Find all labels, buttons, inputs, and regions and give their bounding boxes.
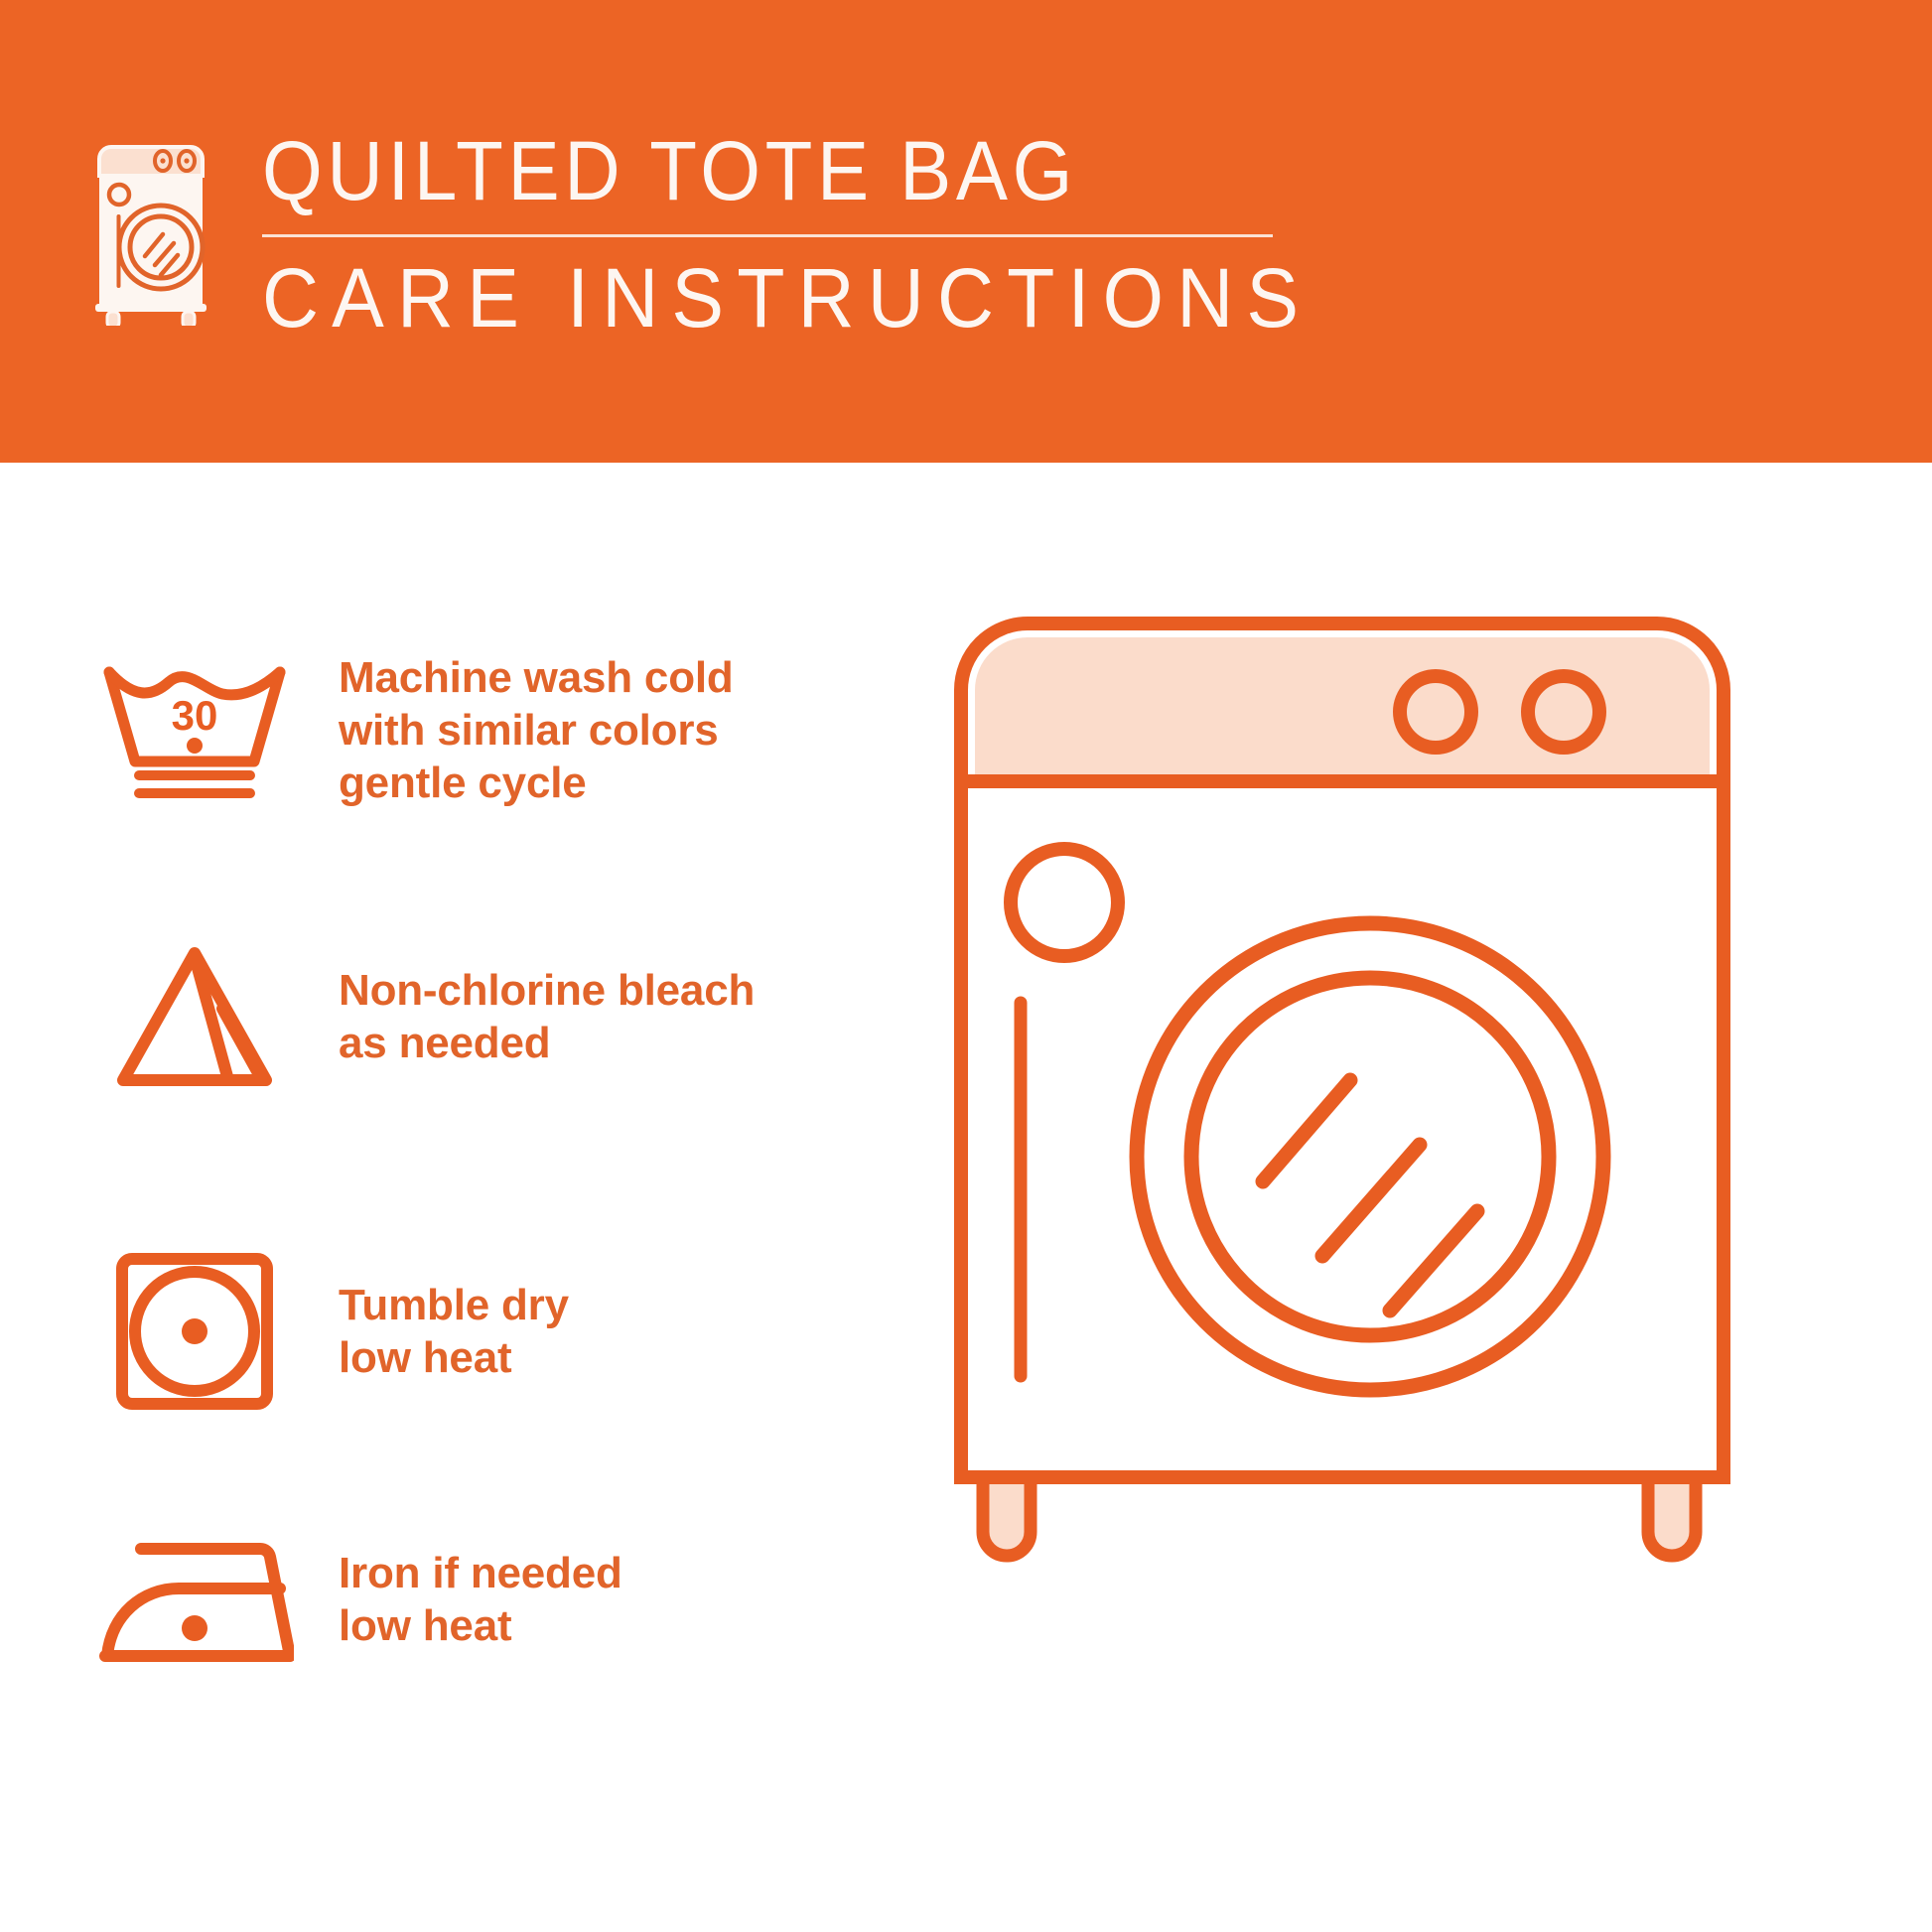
page-subtitle: CARE INSTRUCTIONS [262, 251, 1223, 345]
washing-machine-icon [77, 135, 226, 326]
wash-tub-30-gentle-icon: 30 [87, 656, 301, 805]
non-chlorine-bleach-triangle-icon [87, 937, 301, 1096]
care-item-tumble-dry: Tumble dry low heat [87, 1247, 569, 1416]
care-text-line: gentle cycle [339, 757, 734, 809]
care-text-line: Machine wash cold [339, 651, 734, 704]
care-item-bleach: Non-chlorine bleach as needed [87, 937, 755, 1096]
iron-low-heat-icon [87, 1525, 301, 1674]
care-item-tumble-dry-text: Tumble dry low heat [339, 1279, 569, 1384]
care-item-bleach-text: Non-chlorine bleach as needed [339, 964, 755, 1069]
care-item-machine-wash: 30 Machine wash cold with similar colors… [87, 651, 734, 809]
care-text-line: Tumble dry [339, 1279, 569, 1331]
care-text-line: low heat [339, 1331, 569, 1384]
care-text-line: Iron if needed [339, 1547, 622, 1599]
care-text-line: low heat [339, 1599, 622, 1652]
header-banner: QUILTED TOTE BAG CARE INSTRUCTIONS [0, 0, 1932, 463]
care-text-line: Non-chlorine bleach [339, 964, 755, 1017]
care-item-machine-wash-text: Machine wash cold with similar colors ge… [339, 651, 734, 809]
leg-left [983, 1474, 1031, 1556]
washing-machine-illustration [953, 616, 1906, 1608]
knob-left [1400, 676, 1471, 748]
care-item-iron: Iron if needed low heat [87, 1525, 622, 1674]
leg-right [1648, 1474, 1696, 1556]
header-content: QUILTED TOTE BAG CARE INSTRUCTIONS [77, 125, 1285, 345]
care-text-line: with similar colors [339, 704, 734, 757]
title-block: QUILTED TOTE BAG CARE INSTRUCTIONS [262, 125, 1285, 345]
care-text-line: as needed [339, 1017, 755, 1069]
page-title: QUILTED TOTE BAG [262, 125, 1213, 216]
wash-temperature-label: 30 [171, 692, 217, 739]
title-divider [262, 234, 1273, 237]
tumble-dry-low-heat-icon [87, 1247, 301, 1416]
knob-right [1528, 676, 1599, 748]
care-item-iron-text: Iron if needed low heat [339, 1547, 622, 1652]
